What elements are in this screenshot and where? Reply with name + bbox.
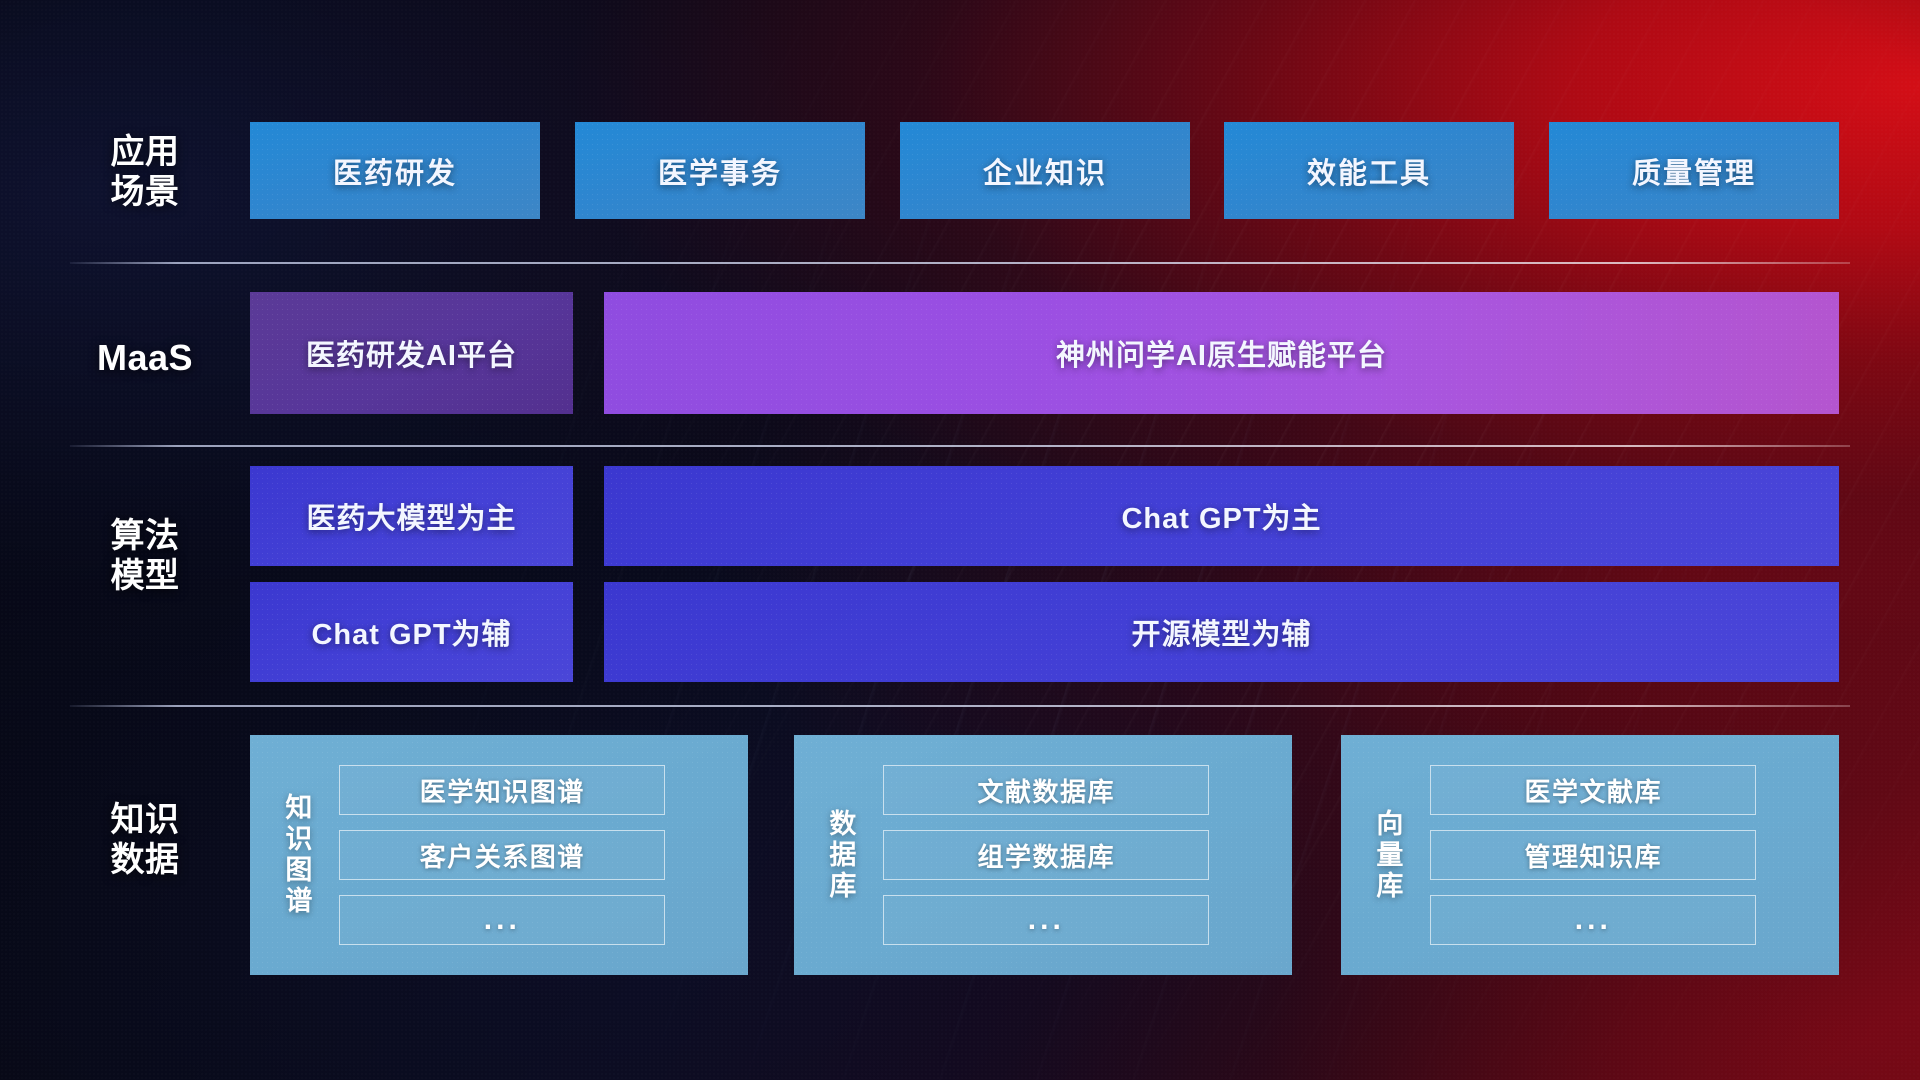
row-label-application-scenarios: 应用 场景 [70, 132, 220, 212]
maas-box-shenzhou-wenxue-platform[interactable]: 神州问学AI原生赋能平台 [604, 292, 1839, 414]
maas-label: 医药研发AI平台 [306, 332, 517, 374]
knowledge-item-more[interactable]: ... [339, 895, 665, 945]
knowledge-item[interactable]: 组学数据库 [883, 830, 1209, 880]
knowledge-item-more[interactable]: ... [883, 895, 1209, 945]
knowledge-item[interactable]: 客户关系图谱 [339, 830, 665, 880]
scenario-label: 效能工具 [1307, 150, 1431, 192]
divider-application [70, 262, 1850, 264]
knowledge-card-knowledge-graph[interactable]: 知识图谱 医学知识图谱 客户关系图谱 ... [250, 735, 748, 975]
knowledge-item[interactable]: 文献数据库 [883, 765, 1209, 815]
maas-box-drug-rd-ai-platform[interactable]: 医药研发AI平台 [250, 292, 573, 414]
knowledge-item[interactable]: 医学知识图谱 [339, 765, 665, 815]
scenario-box-drug-rd[interactable]: 医药研发 [250, 122, 540, 219]
knowledge-item[interactable]: 管理知识库 [1430, 830, 1756, 880]
algo-label: Chat GPT为辅 [311, 611, 511, 653]
row-label-algorithm-model: 算法 模型 [70, 516, 220, 596]
scenario-label: 医药研发 [333, 150, 457, 192]
knowledge-card-title: 数据库 [824, 768, 855, 943]
algo-label: Chat GPT为主 [1121, 495, 1321, 537]
algo-label: 开源模型为辅 [1131, 611, 1311, 653]
scenario-box-efficiency-tools[interactable]: 效能工具 [1224, 122, 1514, 219]
scenario-label: 医学事务 [658, 150, 782, 192]
algo-box-chatgpt-secondary[interactable]: Chat GPT为辅 [250, 582, 573, 682]
knowledge-item[interactable]: 医学文献库 [1430, 765, 1756, 815]
knowledge-item-more[interactable]: ... [1430, 895, 1756, 945]
divider-maas [70, 445, 1850, 447]
row-label-maas: MaaS [70, 337, 220, 379]
divider-algorithm [70, 705, 1850, 707]
architecture-diagram: 应用 场景 医药研发 医学事务 企业知识 效能工具 质量管理 MaaS 医药研发… [0, 0, 1920, 1080]
scenario-box-enterprise-knowledge[interactable]: 企业知识 [900, 122, 1190, 219]
algo-box-opensource-secondary[interactable]: 开源模型为辅 [604, 582, 1839, 682]
scenario-label: 企业知识 [983, 150, 1107, 192]
knowledge-card-title: 向量库 [1371, 768, 1402, 943]
maas-label: 神州问学AI原生赋能平台 [1056, 332, 1387, 374]
scenario-box-quality-management[interactable]: 质量管理 [1549, 122, 1839, 219]
slide-stage: 应用 场景 医药研发 医学事务 企业知识 效能工具 质量管理 MaaS 医药研发… [0, 0, 1920, 1080]
algo-box-chatgpt-primary[interactable]: Chat GPT为主 [604, 466, 1839, 566]
scenario-box-medical-affairs[interactable]: 医学事务 [575, 122, 865, 219]
row-label-knowledge-data: 知识 数据 [70, 800, 220, 880]
algo-box-pharma-llm-primary[interactable]: 医药大模型为主 [250, 466, 573, 566]
scenario-label: 质量管理 [1632, 150, 1756, 192]
knowledge-card-title: 知识图谱 [280, 768, 311, 943]
algo-label: 医药大模型为主 [306, 495, 516, 537]
knowledge-card-vector-database[interactable]: 向量库 医学文献库 管理知识库 ... [1341, 735, 1839, 975]
knowledge-card-database[interactable]: 数据库 文献数据库 组学数据库 ... [794, 735, 1292, 975]
